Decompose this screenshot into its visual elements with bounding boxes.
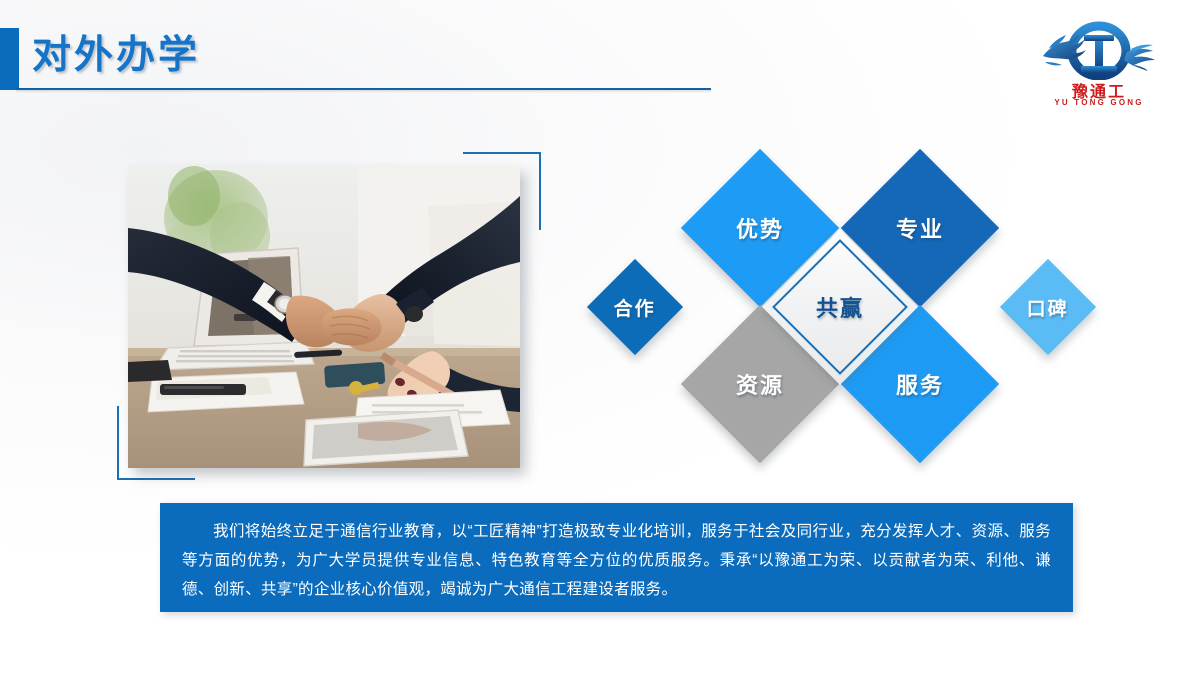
diagram-node-hezuo[interactable]: 合作 xyxy=(587,259,683,355)
diagram-node-label: 资源 xyxy=(736,368,784,400)
header-divider-shadow xyxy=(16,90,711,93)
page-title: 对外办学 xyxy=(32,30,200,83)
photo-bracket-top-right-horizontal xyxy=(463,152,541,154)
diagram-node-label: 专业 xyxy=(896,212,944,244)
diagram-node-label: 口碑 xyxy=(1027,293,1069,320)
photo-bracket-bottom-left-horizontal xyxy=(117,478,195,480)
diagram-node-label: 合作 xyxy=(614,293,656,320)
header-accent-bar xyxy=(0,28,19,90)
description-text: 我们将始终立足于通信行业教育，以“工匠精神”打造极致专业化培训，服务于社会及同行… xyxy=(160,503,1073,604)
slide-canvas: 对外办学 xyxy=(0,0,1200,675)
photo-bracket-bottom-left-vertical xyxy=(117,406,119,480)
logo-pinyin-name: YU TONG GONG xyxy=(1035,98,1163,107)
center-node-label: 共赢 xyxy=(816,291,864,323)
company-logo: 豫通工 YU TONG GONG xyxy=(1035,18,1163,106)
handshake-photo xyxy=(128,166,520,468)
description-panel: 我们将始终立足于通信行业教育，以“工匠精神”打造极致专业化培训，服务于社会及同行… xyxy=(160,503,1073,612)
diagram-node-koubei[interactable]: 口碑 xyxy=(1000,259,1096,355)
dragon-circle-logo-icon xyxy=(1035,18,1163,80)
photo-bracket-top-right-vertical xyxy=(539,152,541,230)
diagram-node-label: 服务 xyxy=(896,368,944,400)
diagram-node-label: 优势 xyxy=(736,212,784,244)
